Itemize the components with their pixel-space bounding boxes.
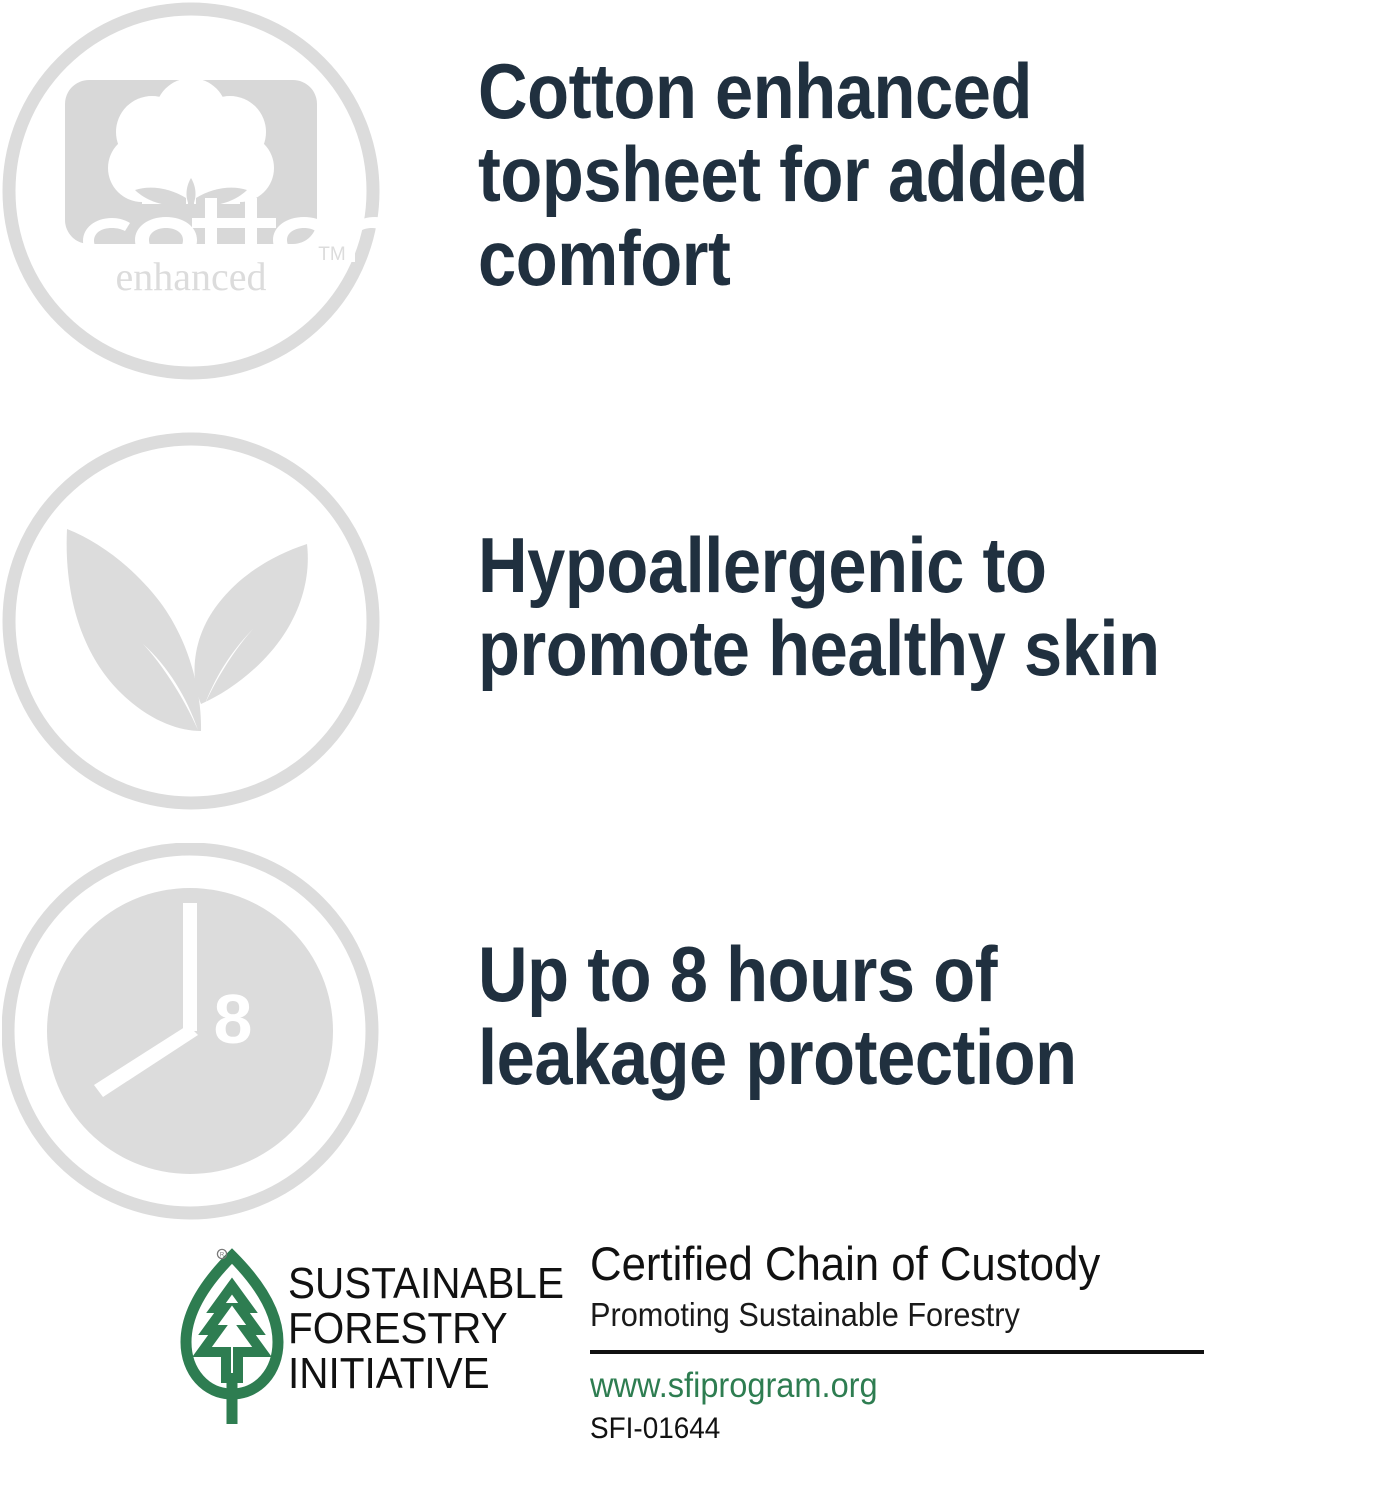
divider-rule: [590, 1350, 1204, 1354]
sfi-wordmark-line-1: SUSTAINABLE: [288, 1262, 546, 1307]
sfi-wordmark-line-3: INITIATIVE: [288, 1352, 546, 1397]
sfi-certification-block: R SUSTAINABLE FORESTRY INITIATIVE Certif…: [0, 1238, 1376, 1500]
registered-mark: R: [220, 1253, 225, 1259]
feature-text-leakage-protection: Up to 8 hours of leakage protection: [478, 933, 1261, 1100]
trademark-mark: TM: [318, 244, 345, 265]
sfi-wordmark-line-2: FORESTRY: [288, 1307, 546, 1352]
cotton-enhanced-qualifier: enhanced: [115, 254, 266, 299]
chain-of-custody-subtitle: Promoting Sustainable Forestry: [590, 1296, 1185, 1334]
chain-of-custody-panel: Certified Chain of Custody Promoting Sus…: [590, 1238, 1230, 1445]
sfi-program-url[interactable]: www.sfiprogram.org: [590, 1367, 1185, 1406]
clock-icon: 8: [2, 843, 380, 1221]
clock-hour-number: 8: [214, 980, 253, 1058]
leaves-icon: [2, 432, 380, 810]
cotton-enhanced-icon: enhanced TM: [2, 2, 380, 380]
sfi-leaf-tree-icon: R: [176, 1246, 288, 1428]
sustainable-forestry-initiative-logo: R SUSTAINABLE FORESTRY INITIATIVE: [176, 1246, 556, 1426]
marketing-feature-panel: enhanced TM Cotton enhanced topsheet for…: [0, 0, 1376, 1500]
chain-of-custody-title: Certified Chain of Custody: [590, 1238, 1185, 1291]
sfi-certificate-code: SFI-01644: [590, 1412, 1185, 1445]
feature-text-cotton-enhanced: Cotton enhanced topsheet for added comfo…: [478, 50, 1261, 300]
sfi-wordmark: SUSTAINABLE FORESTRY INITIATIVE: [288, 1262, 546, 1397]
feature-text-hypoallergenic: Hypoallergenic to promote healthy skin: [478, 524, 1261, 691]
